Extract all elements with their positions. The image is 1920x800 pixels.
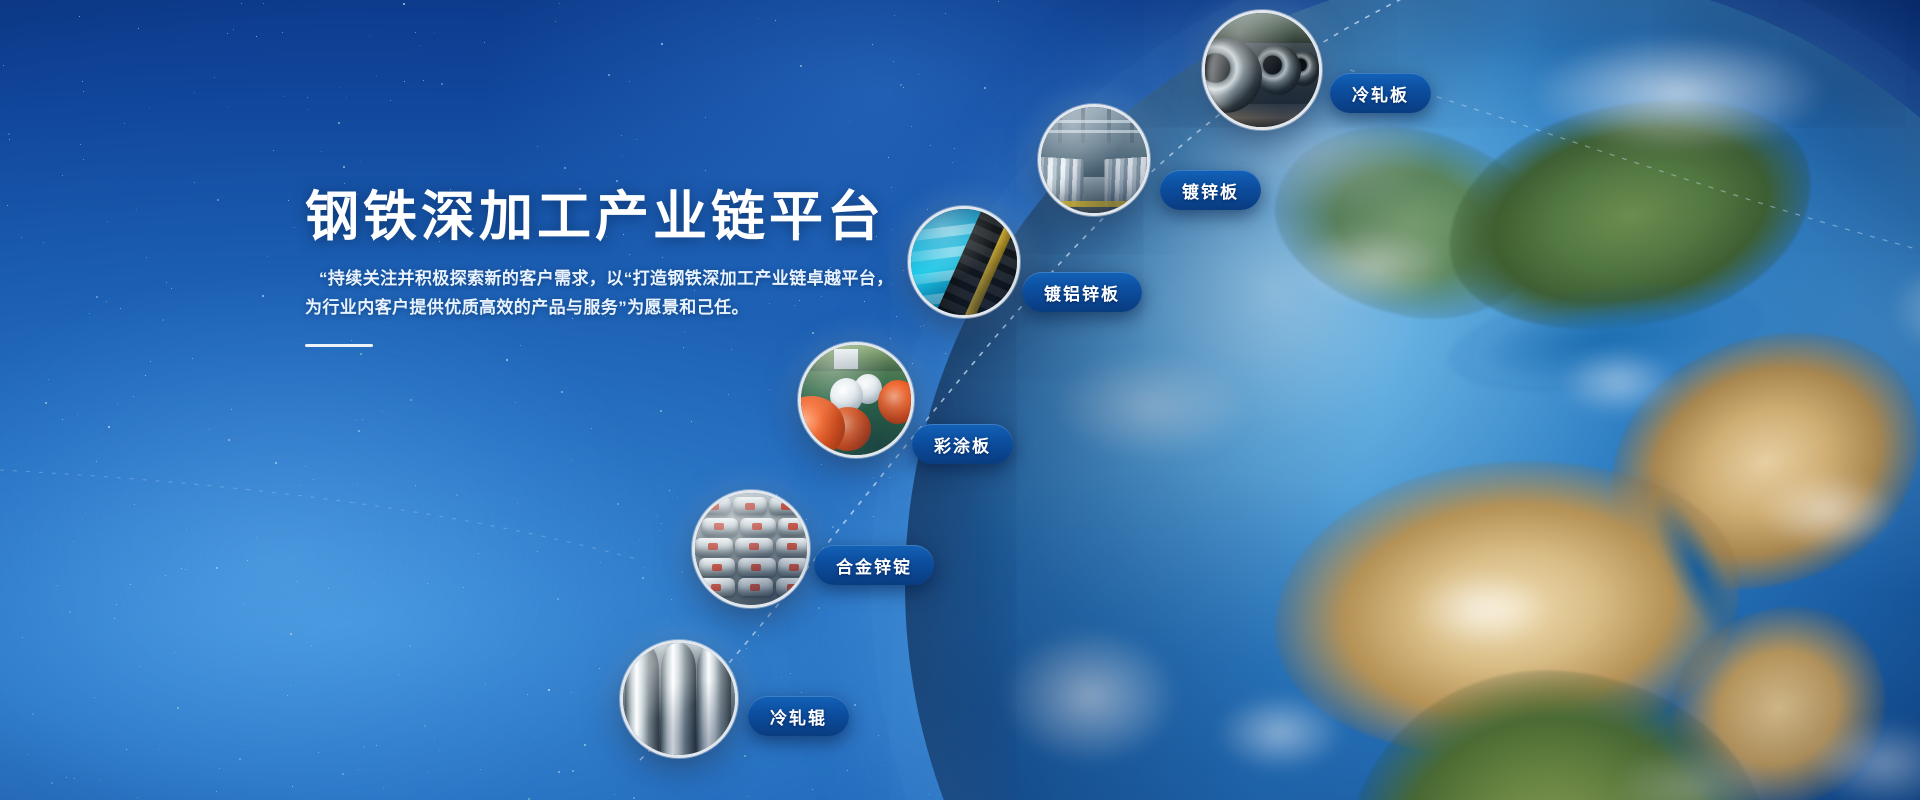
product-label-aluminum-zinc-sheet[interactable]: 镀铝锌板 — [1022, 272, 1142, 312]
product-photo-warehouse-coil-rows[interactable] — [1038, 104, 1150, 216]
subtitle-line-2: 为行业内客户提供优质高效的产品与服务”为愿景和己任。 — [305, 293, 945, 322]
product-photo-steel-coils-row[interactable] — [1202, 10, 1322, 130]
product-label-galvanized-sheet[interactable]: 镀锌板 — [1160, 170, 1261, 210]
page-subtitle: “持续关注并积极探索新的客户需求，以“打造钢铁深加工产业链卓越平台， 为行业内客… — [305, 264, 945, 322]
product-photo-polished-rolls[interactable] — [620, 640, 738, 758]
product-photo-zinc-ingot-stack[interactable] — [692, 490, 810, 608]
product-label-cold-rolled-sheet[interactable]: 冷轧板 — [1330, 73, 1431, 113]
hero-banner: 钢铁深加工产业链平台 “持续关注并积极探索新的客户需求，以“打造钢铁深加工产业链… — [0, 0, 1920, 800]
product-label-text: 镀锌板 — [1182, 178, 1239, 203]
product-label-text: 合金锌锭 — [836, 553, 912, 578]
product-label-cold-rolling-roll[interactable]: 冷轧辊 — [748, 696, 849, 736]
product-label-text: 彩涂板 — [934, 432, 991, 457]
node-connector-path — [0, 0, 1920, 800]
product-label-alloy-zinc-ingot[interactable]: 合金锌锭 — [814, 545, 934, 585]
product-photo-orange-coated-coils[interactable] — [798, 342, 914, 458]
product-label-text: 冷轧板 — [1352, 81, 1409, 106]
product-label-text: 冷轧辊 — [770, 704, 827, 729]
subtitle-line-1: “持续关注并积极探索新的客户需求，以“打造钢铁深加工产业链卓越平台， — [305, 264, 945, 293]
product-label-color-coated-sheet[interactable]: 彩涂板 — [912, 424, 1013, 464]
product-label-text: 镀铝锌板 — [1044, 280, 1120, 305]
headline-rule — [305, 344, 373, 347]
headline-block: 钢铁深加工产业链平台 “持续关注并积极探索新的客户需求，以“打造钢铁深加工产业链… — [305, 186, 945, 347]
page-title: 钢铁深加工产业链平台 — [305, 186, 945, 250]
product-photo-cyan-coated-line[interactable] — [908, 206, 1020, 318]
